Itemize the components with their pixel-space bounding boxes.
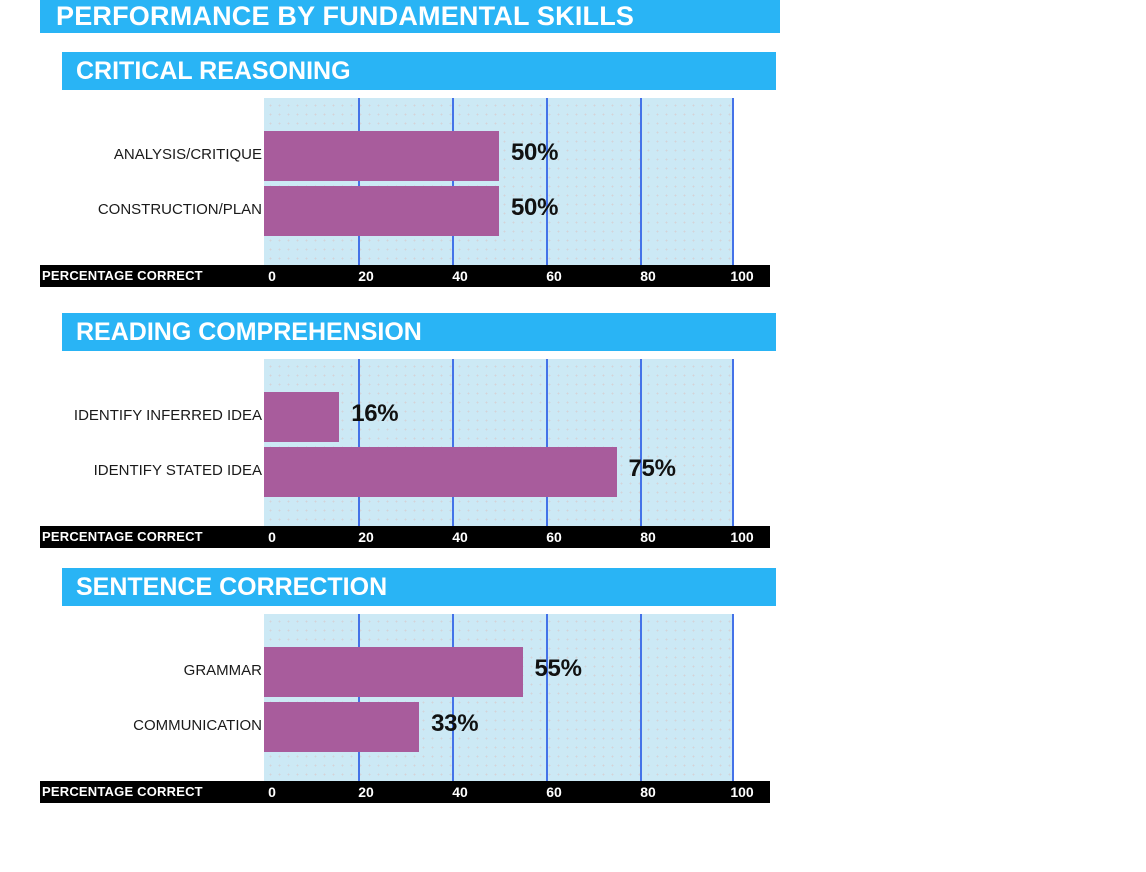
row-label-container: ANALYSIS/CRITIQUE (0, 146, 264, 163)
x-axis-tick-0: 0 (268, 265, 276, 287)
bar-value-label: 16% (351, 400, 398, 428)
x-axis: PERCENTAGE CORRECT020406080100 (40, 526, 770, 548)
x-axis-tick-80: 80 (640, 781, 656, 803)
gridline-20 (358, 98, 360, 265)
gridline-80 (640, 98, 642, 265)
gridline-60 (546, 614, 548, 781)
x-axis-tick-100: 100 (730, 526, 753, 548)
x-axis-title: PERCENTAGE CORRECT (42, 526, 203, 548)
x-axis-tick-40: 40 (452, 526, 468, 548)
x-axis-tick-100: 100 (730, 781, 753, 803)
bar-value-label: 33% (431, 710, 478, 738)
plot-area: 50%50% (264, 98, 734, 265)
x-axis-title: PERCENTAGE CORRECT (42, 265, 203, 287)
category-label: IDENTIFY INFERRED IDEA (2, 407, 262, 424)
x-axis-tick-80: 80 (640, 526, 656, 548)
x-axis-tick-60: 60 (546, 526, 562, 548)
category-label: CONSTRUCTION/PLAN (2, 201, 262, 218)
row-label-container: IDENTIFY STATED IDEA (0, 462, 264, 479)
page-title: PERFORMANCE BY FUNDAMENTAL SKILLS (40, 0, 780, 33)
section-title: SENTENCE CORRECTION (62, 568, 776, 606)
x-axis: PERCENTAGE CORRECT020406080100 (40, 265, 770, 287)
x-axis-tick-100: 100 (730, 265, 753, 287)
bar (264, 702, 419, 752)
bar (264, 647, 523, 697)
bar (264, 392, 339, 442)
gridline-40 (452, 359, 454, 526)
plot-area: 55%33% (264, 614, 734, 781)
row-label-container: IDENTIFY INFERRED IDEA (0, 407, 264, 424)
row-label-container: GRAMMAR (0, 662, 264, 679)
bar (264, 131, 499, 181)
gridline-40 (452, 614, 454, 781)
section-title: CRITICAL REASONING (62, 52, 776, 90)
bar-value-label: 50% (511, 139, 558, 167)
bar (264, 186, 499, 236)
gridline-100 (732, 359, 734, 526)
gridline-80 (640, 359, 642, 526)
x-axis-title: PERCENTAGE CORRECT (42, 781, 203, 803)
x-axis-tick-20: 20 (358, 526, 374, 548)
gridline-100 (732, 98, 734, 265)
gridline-20 (358, 359, 360, 526)
x-axis-tick-40: 40 (452, 265, 468, 287)
x-axis: PERCENTAGE CORRECT020406080100 (40, 781, 770, 803)
category-label: IDENTIFY STATED IDEA (2, 462, 262, 479)
section-title: READING COMPREHENSION (62, 313, 776, 351)
x-axis-tick-40: 40 (452, 781, 468, 803)
x-axis-tick-80: 80 (640, 265, 656, 287)
row-label-container: CONSTRUCTION/PLAN (0, 201, 264, 218)
row-label-container: COMMUNICATION (0, 717, 264, 734)
category-label: ANALYSIS/CRITIQUE (2, 146, 262, 163)
gridline-100 (732, 614, 734, 781)
bar-value-label: 55% (535, 655, 582, 683)
report-page: PERFORMANCE BY FUNDAMENTAL SKILLS CRITIC… (0, 0, 1146, 872)
bar-value-label: 50% (511, 194, 558, 222)
category-label: GRAMMAR (2, 662, 262, 679)
x-axis-tick-60: 60 (546, 781, 562, 803)
x-axis-tick-0: 0 (268, 526, 276, 548)
category-label: COMMUNICATION (2, 717, 262, 734)
x-axis-tick-0: 0 (268, 781, 276, 803)
gridline-20 (358, 614, 360, 781)
gridline-60 (546, 98, 548, 265)
x-axis-tick-20: 20 (358, 265, 374, 287)
gridline-80 (640, 614, 642, 781)
gridline-60 (546, 359, 548, 526)
bar (264, 447, 617, 497)
plot-area: 16%75% (264, 359, 734, 526)
bar-value-label: 75% (629, 455, 676, 483)
gridline-40 (452, 98, 454, 265)
x-axis-tick-20: 20 (358, 781, 374, 803)
x-axis-tick-60: 60 (546, 265, 562, 287)
